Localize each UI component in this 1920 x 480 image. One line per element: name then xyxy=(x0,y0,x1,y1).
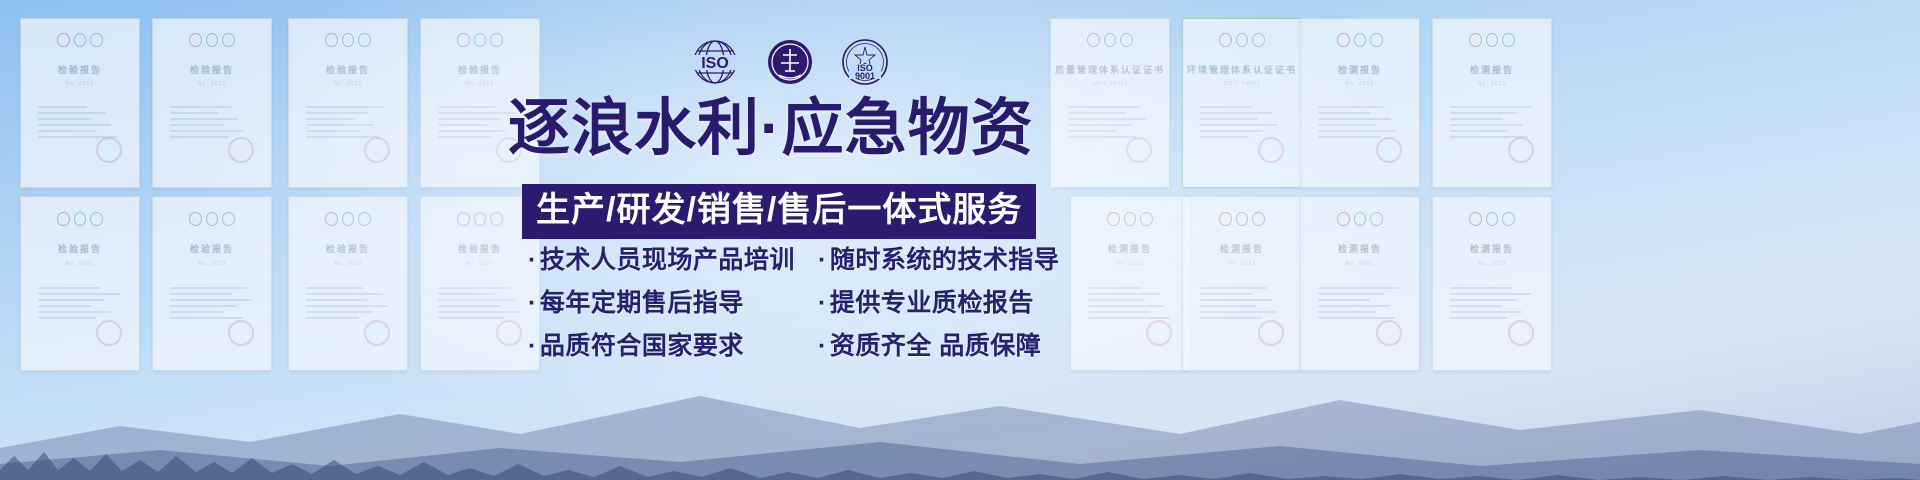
bullet-marker-icon: · xyxy=(818,332,827,360)
bullet-item: ·每年定期售后指导 xyxy=(528,288,818,318)
certificate-seal-icon xyxy=(325,211,371,227)
certificate-title: 检验报告 xyxy=(153,63,271,76)
certificate-subtitle: No. 2023 xyxy=(289,261,407,267)
bullet-marker-icon: · xyxy=(528,246,537,274)
certificate-body-lines xyxy=(1450,287,1535,323)
certificate-seal-icon xyxy=(1469,32,1515,48)
certificate-title: 检测报告 xyxy=(1433,242,1551,255)
certificate-seal-icon xyxy=(1219,32,1265,48)
certificate-subtitle: No. 2023 xyxy=(153,261,271,267)
certificate-seal-icon xyxy=(1219,211,1265,227)
certificate-title: 检测报告 xyxy=(1433,63,1551,76)
certificate-thumbnail: 检测报告No. 2023 xyxy=(1182,196,1302,371)
certificate-stamp-icon xyxy=(96,137,122,163)
certificate-subtitle: GB/T 19001 xyxy=(1051,81,1169,87)
certificate-thumbnail: 检验报告No. 2023 xyxy=(20,18,140,188)
svg-text:ISO: ISO xyxy=(701,55,729,72)
certificate-subtitle: No. 2023 xyxy=(1433,81,1551,87)
certificate-stamp-icon xyxy=(1508,320,1534,346)
certificate-seal-icon xyxy=(189,211,235,227)
bullet-row: ·品质符合国家要求 ·资质齐全 品质保障 xyxy=(528,331,1058,361)
bullet-row: ·技术人员现场产品培训 ·随时系统的技术指导 xyxy=(528,245,1058,275)
certificate-subtitle: No. 2023 xyxy=(21,81,139,87)
certificate-thumbnail: 检验报告No. 2023 xyxy=(20,196,140,371)
certificate-thumbnail: 检验报告No. 2023 xyxy=(288,196,408,371)
certificate-title: 检验报告 xyxy=(289,63,407,76)
certificate-seal-icon xyxy=(1337,32,1383,48)
bullet-item: ·提供专业质检报告 xyxy=(818,288,1058,318)
bullet-item: ·品质符合国家要求 xyxy=(528,331,818,361)
certificate-thumbnail: 检测报告No. 2023 xyxy=(1070,196,1190,371)
certificate-thumbnail: 检测报告No. 2023 xyxy=(1300,196,1420,371)
certificate-body-lines xyxy=(306,287,391,323)
certificate-title: 检验报告 xyxy=(421,63,539,76)
certificate-stamp-icon xyxy=(1258,137,1284,163)
quality-emblem-badge xyxy=(765,37,815,87)
bullet-marker-icon: · xyxy=(528,289,537,317)
certificate-title: 环境管理体系认证证书 xyxy=(1183,63,1301,76)
bullet-label: 技术人员现场产品培训 xyxy=(540,246,795,274)
certificate-wall: 检验报告No. 2023检验报告No. 2023检验报告No. 2023检验报告… xyxy=(0,0,1920,480)
banner-headline: 逐浪水利·应急物资 xyxy=(508,98,1068,160)
certificate-stamp-icon xyxy=(496,320,522,346)
certificate-body-lines xyxy=(438,287,523,323)
certificate-subtitle: No. 2023 xyxy=(1301,261,1419,267)
certificate-subtitle: No. 2023 xyxy=(1183,261,1301,267)
certificate-seal-icon xyxy=(1107,211,1153,227)
bullet-row: ·每年定期售后指导 ·提供专业质检报告 xyxy=(528,288,1058,318)
certificate-seal-icon xyxy=(325,32,371,48)
certificate-thumbnail: 检验报告No. 2023 xyxy=(152,18,272,188)
certificate-title: 检测报告 xyxy=(1301,242,1419,255)
certificate-stamp-icon xyxy=(1376,320,1402,346)
feature-bullet-list: ·技术人员现场产品培训 ·随时系统的技术指导 ·每年定期售后指导 ·提供专业质检… xyxy=(528,245,1058,374)
certificate-stamp-icon xyxy=(1508,137,1534,163)
certificate-subtitle: GB/T 24001 xyxy=(1183,81,1301,87)
svg-text:9001: 9001 xyxy=(855,71,875,81)
certificate-subtitle: No. 2023 xyxy=(153,81,271,87)
certificate-title: 检测报告 xyxy=(1183,242,1301,255)
certificate-title: 检验报告 xyxy=(153,242,271,255)
certificate-thumbnail: 检测报告No. 2023 xyxy=(1432,196,1552,371)
certificate-stamp-icon xyxy=(1146,320,1172,346)
certificate-subtitle: No. 2023 xyxy=(1071,261,1189,267)
certificate-title: 检测报告 xyxy=(1301,63,1419,76)
certificate-thumbnail: 检验报告No. 2023 xyxy=(152,196,272,371)
bullet-item: ·资质齐全 品质保障 xyxy=(818,331,1058,361)
bullet-label: 提供专业质检报告 xyxy=(830,289,1034,317)
certificate-subtitle: No. 2023 xyxy=(1433,261,1551,267)
certificate-body-lines xyxy=(1200,287,1285,323)
promotional-banner: 检验报告No. 2023检验报告No. 2023检验报告No. 2023检验报告… xyxy=(0,0,1920,480)
certificate-seal-icon xyxy=(57,211,103,227)
certificate-seal-icon xyxy=(189,32,235,48)
certificate-thumbnail: 检测报告No. 2023 xyxy=(1300,18,1420,188)
certificate-thumbnail: 检测报告No. 2023 xyxy=(1432,18,1552,188)
certificate-subtitle: No. 2023 xyxy=(1301,81,1419,87)
certificate-subtitle: No. 2023 xyxy=(21,261,139,267)
certificate-subtitle: No. 2023 xyxy=(421,261,539,267)
certificate-title: 质量管理体系认证证书 xyxy=(1051,63,1169,76)
certificate-seal-icon xyxy=(457,211,503,227)
certificate-seal-icon xyxy=(57,32,103,48)
bullet-item: ·技术人员现场产品培训 xyxy=(528,245,818,275)
certificate-thumbnail: 检验报告No. 2023 xyxy=(288,18,408,188)
certificate-seal-icon xyxy=(457,32,503,48)
certificate-seal-icon xyxy=(1337,211,1383,227)
certificate-stamp-icon xyxy=(1376,137,1402,163)
certificate-seal-icon xyxy=(1469,211,1515,227)
iso-9001-badge: ISO 9001 xyxy=(840,37,890,87)
certificate-thumbnail: 质量管理体系认证证书GB/T 19001 xyxy=(1050,18,1170,188)
bullet-label: 品质符合国家要求 xyxy=(540,332,744,360)
certification-badges: ISO ISO 9001 xyxy=(690,36,890,88)
certificate-body-lines xyxy=(170,287,255,323)
certificate-title: 检验报告 xyxy=(21,242,139,255)
certificate-stamp-icon xyxy=(96,320,122,346)
certificate-subtitle: No. 2023 xyxy=(421,81,539,87)
certificate-body-lines xyxy=(1088,287,1173,323)
bullet-label: 每年定期售后指导 xyxy=(540,289,744,317)
certificate-title: 检验报告 xyxy=(421,242,539,255)
bullet-marker-icon: · xyxy=(818,246,827,274)
certificate-stamp-icon xyxy=(1258,320,1284,346)
certificate-seal-icon xyxy=(1087,32,1133,48)
certificate-title: 检验报告 xyxy=(289,242,407,255)
bullet-label: 资质齐全 品质保障 xyxy=(830,332,1041,360)
bullet-marker-icon: · xyxy=(818,289,827,317)
certificate-stamp-icon xyxy=(228,320,254,346)
certificate-subtitle: No. 2023 xyxy=(289,81,407,87)
certificate-stamp-icon xyxy=(1126,137,1152,163)
certificate-thumbnail: 环境管理体系认证证书GB/T 24001 xyxy=(1182,18,1302,188)
bullet-label: 随时系统的技术指导 xyxy=(830,246,1060,274)
bullet-item: ·随时系统的技术指导 xyxy=(818,245,1058,275)
certificate-stamp-icon xyxy=(364,137,390,163)
bullet-marker-icon: · xyxy=(528,332,537,360)
service-scope-bar: 生产/研发/销售/售后一体式服务 xyxy=(522,184,1036,239)
certificate-body-lines xyxy=(38,287,123,323)
certificate-stamp-icon xyxy=(228,137,254,163)
certificate-title: 检测报告 xyxy=(1071,242,1189,255)
certificate-stamp-icon xyxy=(364,320,390,346)
iso-globe-badge: ISO xyxy=(690,37,740,87)
certificate-body-lines xyxy=(1318,287,1403,323)
certificate-title: 检验报告 xyxy=(21,63,139,76)
